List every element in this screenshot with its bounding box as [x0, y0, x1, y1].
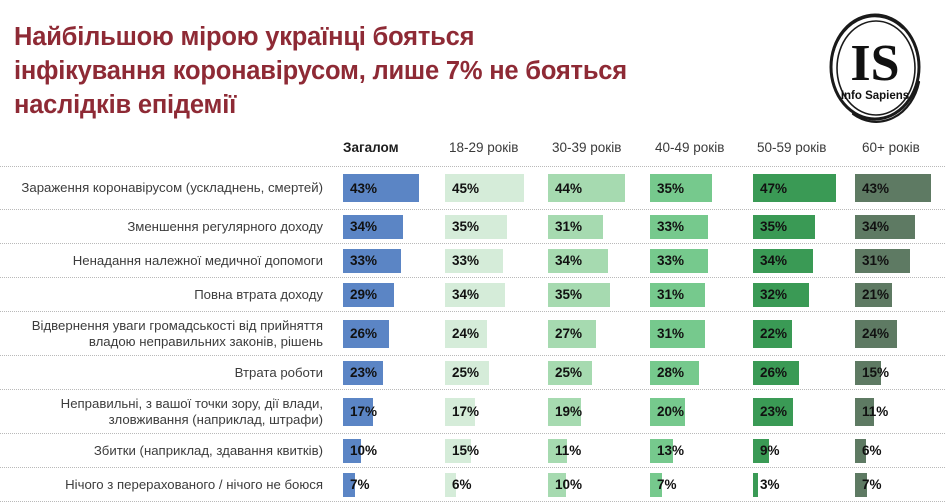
data-cell: 21% [855, 283, 915, 307]
chart-header: Найбільшою мірою українці бояться інфіку… [0, 0, 945, 140]
value-label: 25% [452, 361, 479, 385]
row-label: Відвернення уваги громадськості від прий… [0, 312, 333, 355]
column-header-4: 40-49 років [655, 140, 724, 155]
data-cell: 11% [855, 398, 915, 426]
column-header-row: Загалом18-29 років30-39 років40-49 років… [0, 140, 945, 166]
value-label: 33% [350, 249, 377, 273]
data-cell: 34% [445, 283, 505, 307]
data-cell: 34% [855, 215, 915, 239]
info-sapiens-logo: IS Info Sapiens [819, 10, 931, 126]
table-row: Зменшення регулярного доходу34%35%31%33%… [0, 210, 945, 244]
data-cell: 33% [343, 249, 403, 273]
table-body: Зараження коронавірусом (ускладнень, сме… [0, 166, 945, 502]
row-label: Нічого з перерахованого / нічого не боюс… [0, 468, 333, 501]
table-row: Неправильні, з вашої точки зору, дії вла… [0, 390, 945, 434]
column-header-5: 50-59 років [757, 140, 826, 155]
data-cell: 17% [343, 398, 403, 426]
value-label: 27% [555, 320, 582, 348]
value-label: 34% [555, 249, 582, 273]
data-cell: 27% [548, 320, 608, 348]
data-cell: 25% [548, 361, 608, 385]
value-label: 35% [760, 215, 787, 239]
value-label: 25% [555, 361, 582, 385]
row-label: Зараження коронавірусом (ускладнень, сме… [0, 167, 333, 209]
data-cell: 35% [650, 174, 712, 202]
data-cell: 10% [548, 473, 608, 497]
data-cell: 47% [753, 174, 836, 202]
data-cell: 26% [753, 361, 813, 385]
column-header-1: Загалом [343, 140, 399, 155]
data-cell: 6% [855, 439, 915, 463]
value-label: 31% [862, 249, 889, 273]
table-row: Повна втрата доходу29%34%35%31%32%21% [0, 278, 945, 312]
value-label: 17% [452, 398, 479, 426]
value-label: 34% [452, 283, 479, 307]
value-label: 34% [862, 215, 889, 239]
data-cell: 6% [445, 473, 505, 497]
data-cell: 17% [445, 398, 505, 426]
data-cell: 43% [343, 174, 419, 202]
value-label: 31% [657, 320, 684, 348]
value-label: 33% [657, 215, 684, 239]
data-cell: 24% [855, 320, 915, 348]
value-label: 6% [862, 439, 882, 463]
data-cell: 15% [445, 439, 505, 463]
data-cell: 34% [343, 215, 403, 239]
value-label: 17% [350, 398, 377, 426]
table-row: Втрата роботи23%25%25%28%26%15% [0, 356, 945, 390]
data-cell: 24% [445, 320, 505, 348]
row-label: Ненадання належної медичної допомоги [0, 244, 333, 277]
value-label: 11% [862, 398, 888, 426]
value-label: 44% [555, 174, 582, 202]
value-label: 32% [760, 283, 787, 307]
row-label: Повна втрата доходу [0, 278, 333, 311]
value-label: 13% [657, 439, 684, 463]
value-label: 21% [862, 283, 889, 307]
value-label: 43% [862, 174, 889, 202]
value-label: 43% [350, 174, 377, 202]
data-cell: 33% [650, 249, 710, 273]
data-cell: 13% [650, 439, 710, 463]
data-cell: 34% [548, 249, 608, 273]
table-row: Ненадання належної медичної допомоги33%3… [0, 244, 945, 278]
data-cell: 32% [753, 283, 813, 307]
value-label: 24% [862, 320, 889, 348]
value-label: 47% [760, 174, 787, 202]
value-label: 20% [657, 398, 684, 426]
value-label: 6% [452, 473, 472, 497]
data-cell: 35% [445, 215, 507, 239]
data-cell: 10% [343, 439, 403, 463]
value-label: 34% [350, 215, 377, 239]
data-cell: 43% [855, 174, 931, 202]
data-cell: 31% [855, 249, 915, 273]
column-header-6: 60+ років [862, 140, 920, 155]
logo-monogram: IS [850, 35, 899, 92]
data-cell: 11% [548, 439, 608, 463]
value-label: 35% [555, 283, 582, 307]
data-cell: 33% [445, 249, 505, 273]
value-label: 15% [862, 361, 889, 385]
value-label: 28% [657, 361, 684, 385]
value-label: 31% [657, 283, 684, 307]
data-cell: 7% [855, 473, 915, 497]
data-cell: 23% [343, 361, 403, 385]
table-row: Відвернення уваги громадськості від прий… [0, 312, 945, 356]
data-cell: 31% [650, 320, 710, 348]
value-label: 7% [657, 473, 677, 497]
logo-icon: IS Info Sapiens [819, 10, 931, 126]
data-cell: 9% [753, 439, 813, 463]
row-label: Втрата роботи [0, 356, 333, 389]
data-cell: 25% [445, 361, 505, 385]
data-cell: 26% [343, 320, 403, 348]
value-label: 22% [760, 320, 787, 348]
row-label: Зменшення регулярного доходу [0, 210, 333, 243]
value-label: 15% [452, 439, 479, 463]
value-label: 23% [760, 398, 787, 426]
value-label: 19% [555, 398, 582, 426]
table-row: Нічого з перерахованого / нічого не боюс… [0, 468, 945, 502]
value-label: 34% [760, 249, 787, 273]
data-cell: 22% [753, 320, 813, 348]
value-label: 9% [760, 439, 780, 463]
data-cell: 15% [855, 361, 915, 385]
value-label: 31% [555, 215, 582, 239]
value-label: 26% [760, 361, 787, 385]
data-cell: 20% [650, 398, 710, 426]
data-cell: 19% [548, 398, 608, 426]
column-header-3: 30-39 років [552, 140, 621, 155]
value-label: 11% [555, 439, 581, 463]
row-label: Збитки (наприклад, здавання квитків) [0, 434, 333, 467]
data-cell: 28% [650, 361, 710, 385]
data-cell: 44% [548, 174, 625, 202]
data-cell: 31% [650, 283, 710, 307]
data-cell: 35% [548, 283, 610, 307]
table-row: Зараження коронавірусом (ускладнень, сме… [0, 166, 945, 210]
logo-name: Info Sapiens [841, 90, 909, 102]
data-cell: 34% [753, 249, 813, 273]
data-cell: 35% [753, 215, 815, 239]
column-header-2: 18-29 років [449, 140, 518, 155]
data-cell: 7% [650, 473, 710, 497]
data-table: Загалом18-29 років30-39 років40-49 років… [0, 140, 945, 502]
data-cell: 45% [445, 174, 524, 202]
value-label: 33% [657, 249, 684, 273]
data-cell: 31% [548, 215, 608, 239]
data-cell: 7% [343, 473, 403, 497]
value-label: 10% [555, 473, 582, 497]
value-label: 29% [350, 283, 377, 307]
value-label: 24% [452, 320, 479, 348]
value-label: 7% [862, 473, 882, 497]
value-label: 10% [350, 439, 377, 463]
value-label: 23% [350, 361, 377, 385]
value-label: 26% [350, 320, 377, 348]
row-label: Неправильні, з вашої точки зору, дії вла… [0, 390, 333, 433]
value-label: 35% [452, 215, 479, 239]
value-label: 3% [760, 473, 780, 497]
data-cell: 33% [650, 215, 710, 239]
value-label: 7% [350, 473, 370, 497]
value-label: 35% [657, 174, 684, 202]
value-label: 33% [452, 249, 479, 273]
value-bar [753, 473, 758, 497]
data-cell: 23% [753, 398, 813, 426]
value-label: 45% [452, 174, 479, 202]
table-row: Збитки (наприклад, здавання квитків)10%1… [0, 434, 945, 468]
page-title: Найбільшою мірою українці бояться інфіку… [14, 20, 784, 122]
data-cell: 29% [343, 283, 403, 307]
data-cell: 3% [753, 473, 813, 497]
